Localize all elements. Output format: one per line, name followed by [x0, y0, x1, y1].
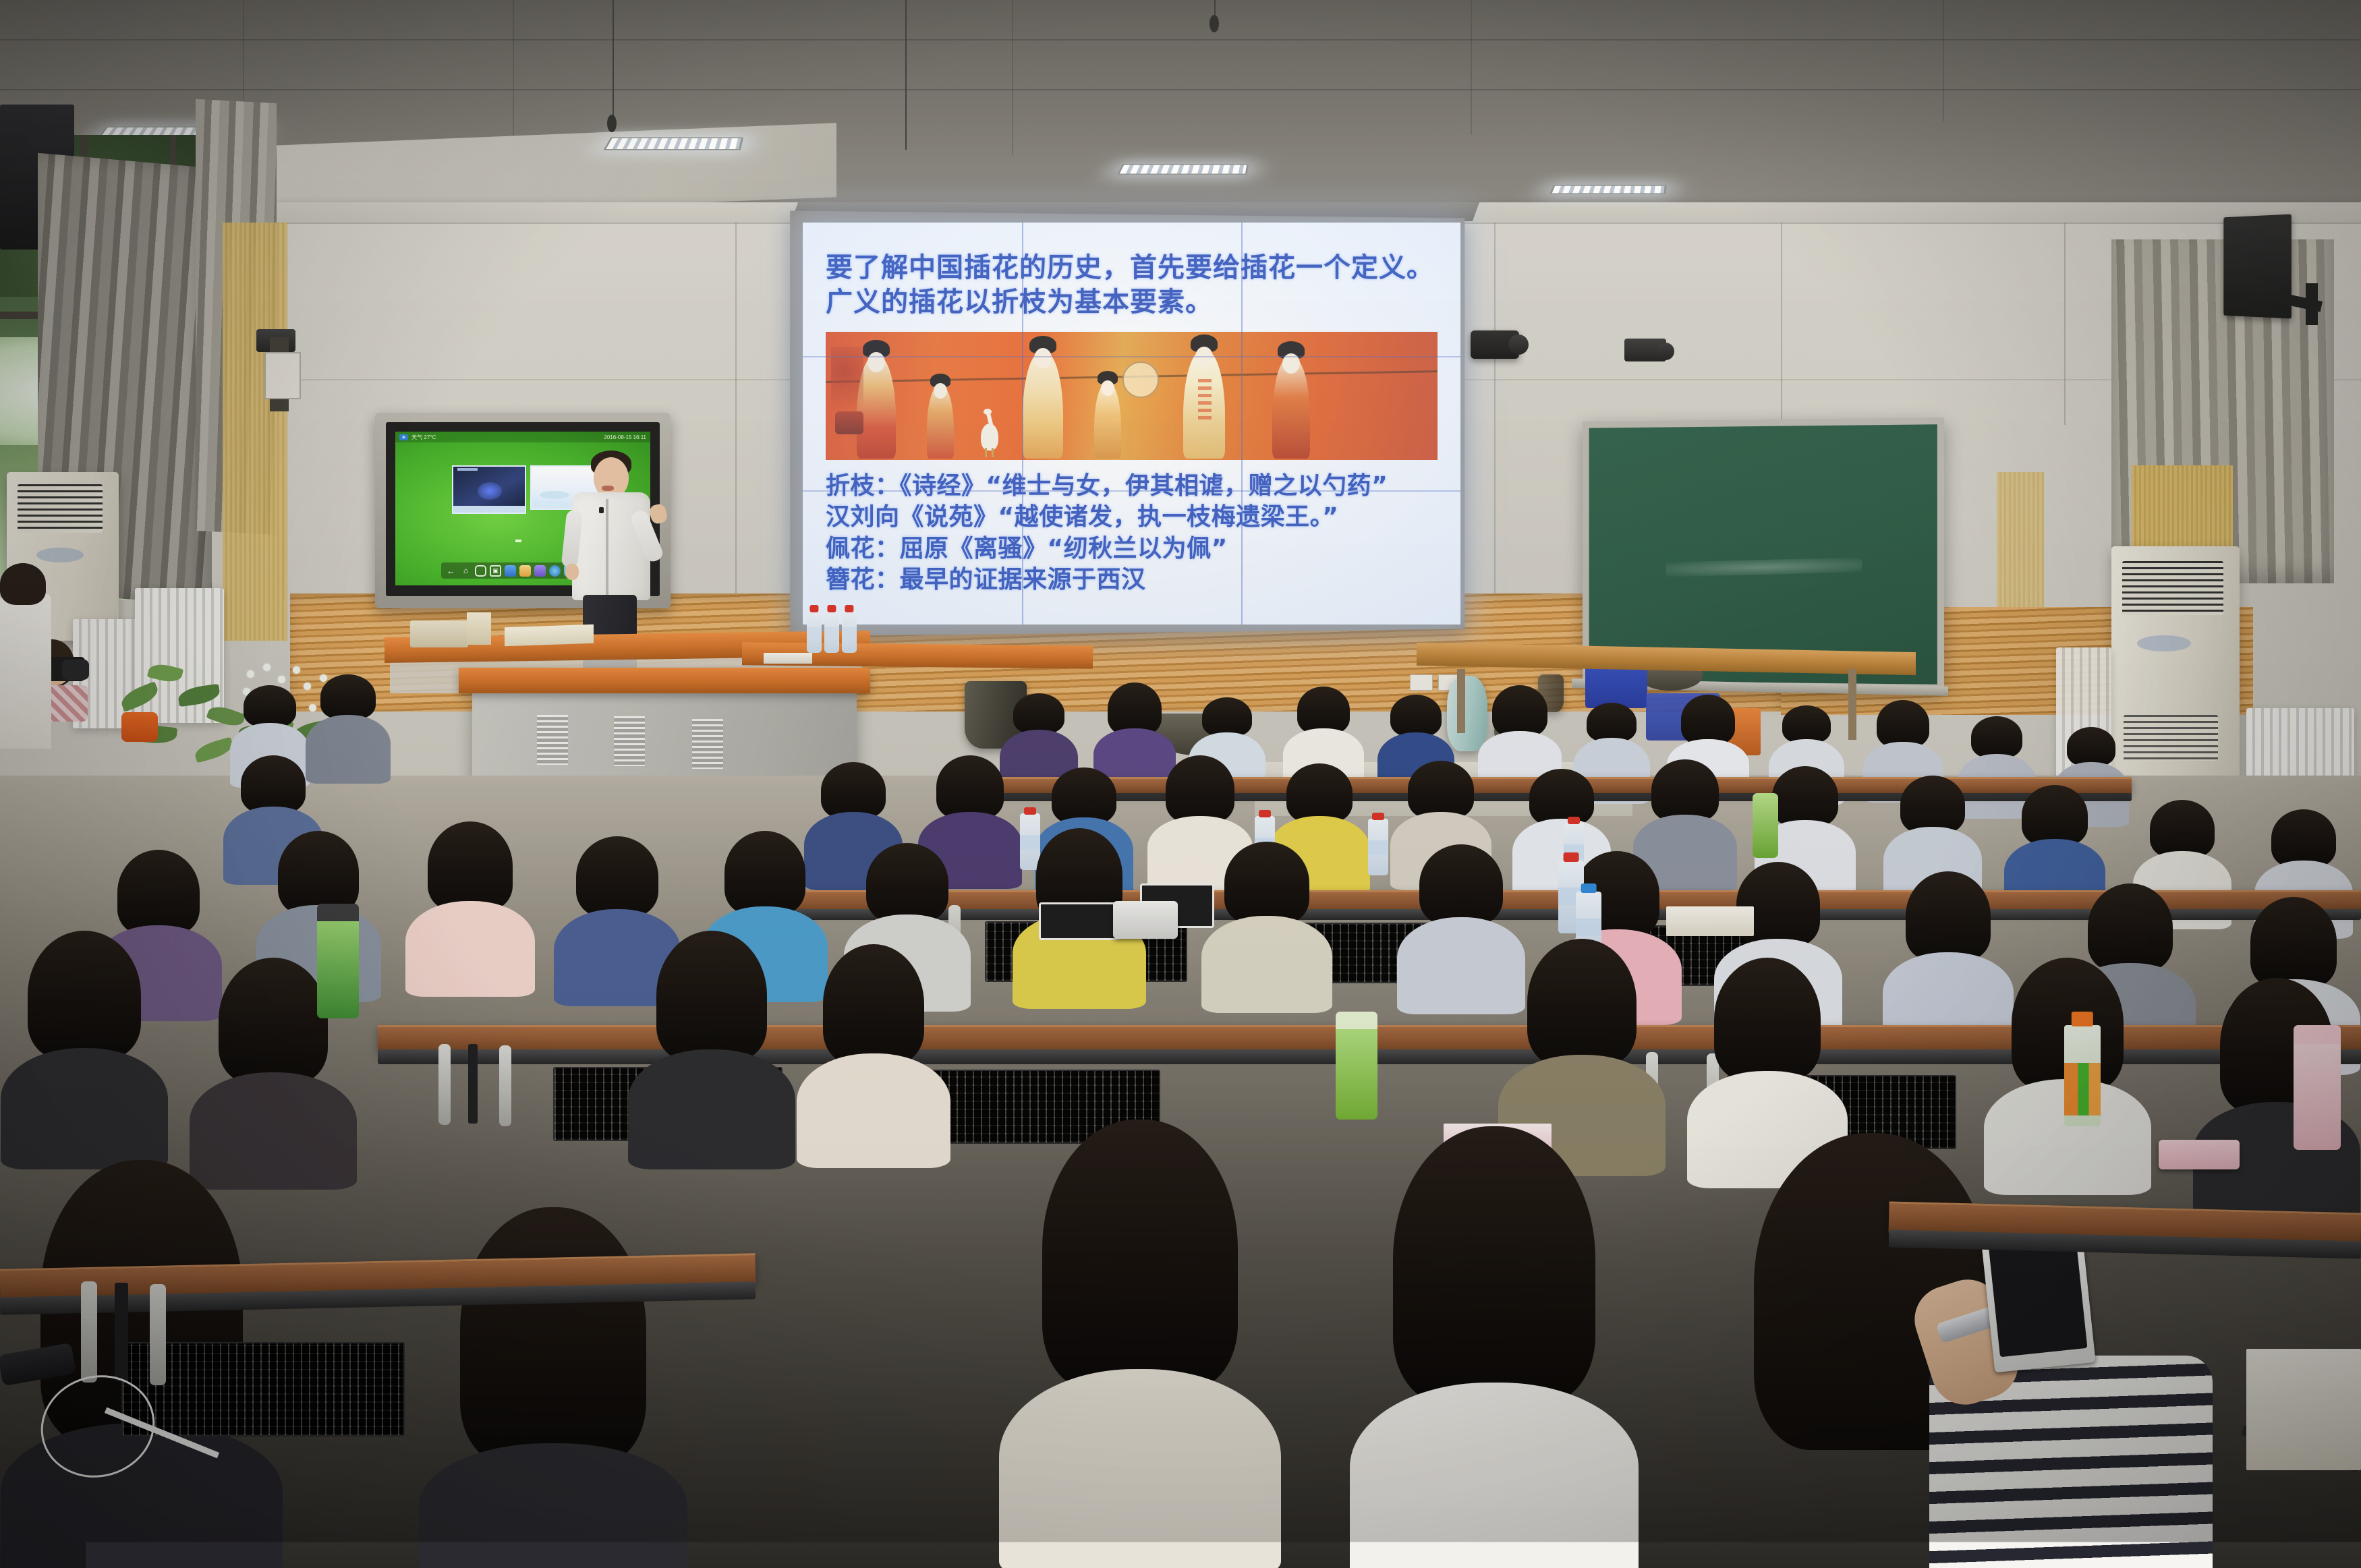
back-arrow-icon[interactable]: ← — [445, 565, 457, 577]
slide-top-text: 要了解中国插花的历史，首先要给插花一个定义。 广义的插花以折枝为基本要素。 — [826, 251, 1438, 320]
desk-bracket — [81, 1281, 97, 1383]
painting-figure — [927, 386, 954, 459]
student — [1727, 1133, 2213, 1568]
lcd-video-wall[interactable]: 要了解中国插花的历史，首先要给插花一个定义。 广义的插花以折枝为基本要素。 — [803, 223, 1460, 625]
presentation-slide: 要了解中国插花的历史，首先要给插花一个定义。 广义的插花以折枝为基本要素。 — [803, 223, 1460, 625]
smartphone[interactable] — [1113, 901, 1178, 939]
pink-thermos[interactable] — [2294, 1025, 2341, 1150]
lecture-hall-photo: 要了解中国插花的历史，首先要给插花一个定义。 广义的插花以折枝为基本要素。 — [0, 0, 2361, 1568]
student — [796, 944, 951, 1160]
browser-icon[interactable] — [549, 565, 561, 577]
slide-painting-court-ladies — [826, 332, 1438, 460]
notebook[interactable] — [1666, 906, 1754, 936]
save-icon[interactable]: ▣ — [490, 565, 501, 577]
green-thermos[interactable] — [1753, 793, 1778, 858]
student — [1349, 1126, 1639, 1568]
wall-socket[interactable] — [1410, 674, 1433, 691]
floor-air-conditioner — [2111, 546, 2240, 789]
lecturer-shirt — [572, 492, 650, 600]
notebook[interactable] — [2246, 1349, 2361, 1470]
home-icon[interactable]: ⌂ — [460, 565, 472, 577]
desk-bracket — [438, 1044, 451, 1125]
status-datetime-text: 2016-08-15 16:11 — [604, 434, 646, 440]
desk-bracket — [499, 1045, 511, 1126]
gallery-icon[interactable] — [519, 565, 531, 577]
ceiling-hanger-wire — [905, 0, 907, 150]
water-bottle[interactable] — [1368, 819, 1388, 875]
video-wall-seam — [1241, 223, 1243, 625]
orange-flower — [121, 712, 158, 742]
folder-icon[interactable] — [505, 565, 516, 577]
ceiling-light-panel — [603, 138, 743, 150]
status-weather-text: 天气 27°C — [411, 434, 436, 441]
student — [1201, 842, 1333, 1012]
table-leg — [1848, 669, 1856, 740]
painting-fan — [1122, 361, 1159, 398]
camera-icon — [1657, 343, 1674, 360]
green-thermos[interactable] — [1336, 1012, 1377, 1120]
student — [998, 1120, 1282, 1568]
video-wall-seam — [1022, 223, 1023, 625]
desk-bracket — [150, 1284, 166, 1385]
student — [405, 821, 536, 995]
lecturer-shirt-placket — [606, 499, 608, 599]
podium-countertop — [459, 668, 870, 693]
water-bottle[interactable] — [824, 611, 839, 653]
smart-board-cursor — [515, 540, 521, 542]
painting-vessel — [835, 411, 863, 434]
camera-icon — [1508, 335, 1529, 355]
juice-bottle[interactable] — [2064, 1025, 2101, 1126]
painting-figure — [1094, 383, 1121, 459]
photos-icon[interactable] — [534, 565, 546, 577]
papers-on-desk — [764, 653, 812, 664]
desk-hinge — [115, 1283, 128, 1381]
standing-person-white-top — [0, 593, 51, 749]
lecturer-left-hand — [565, 564, 579, 580]
ceiling-hanger-wire — [613, 0, 614, 116]
wood-wall-pilaster — [223, 223, 287, 641]
water-bottle[interactable] — [842, 611, 857, 653]
papers-on-desk — [505, 625, 594, 647]
camera-lens-icon — [62, 660, 89, 680]
paper-box-on-desk — [467, 612, 491, 645]
painting-figure — [1023, 352, 1063, 459]
ceiling-hanger-knob — [1210, 15, 1219, 32]
tablet[interactable] — [1039, 902, 1118, 940]
student — [0, 931, 169, 1160]
window-icon[interactable] — [475, 565, 486, 577]
ceiling-light-panel — [1117, 164, 1249, 175]
water-bottle[interactable] — [807, 611, 822, 653]
standing-person-hair — [0, 563, 46, 605]
video-wall-seam — [803, 490, 1460, 492]
painting-crane — [975, 409, 1002, 457]
student — [627, 931, 796, 1160]
ceiling-light-panel — [1549, 185, 1667, 194]
green-thermos[interactable] — [317, 904, 359, 1018]
desk-hinge — [468, 1044, 478, 1124]
speaker-mount-bracket — [2306, 283, 2318, 325]
painting-figure — [1272, 357, 1310, 459]
painting-figure — [1183, 351, 1225, 459]
lapel-microphone-icon — [599, 507, 604, 513]
weather-chip: ☀ — [399, 434, 408, 440]
ceiling-hanger-knob — [607, 115, 617, 132]
wall-control-panel — [264, 352, 301, 399]
paper-box-on-desk — [410, 620, 468, 647]
video-wall-seam — [803, 356, 1460, 357]
smart-board-thumbnail-presentation[interactable] — [452, 465, 526, 514]
table-leg — [1457, 669, 1465, 733]
smart-board-status-bar: ☀ 天气 27°C 2016-08-15 16:11 — [395, 432, 650, 442]
